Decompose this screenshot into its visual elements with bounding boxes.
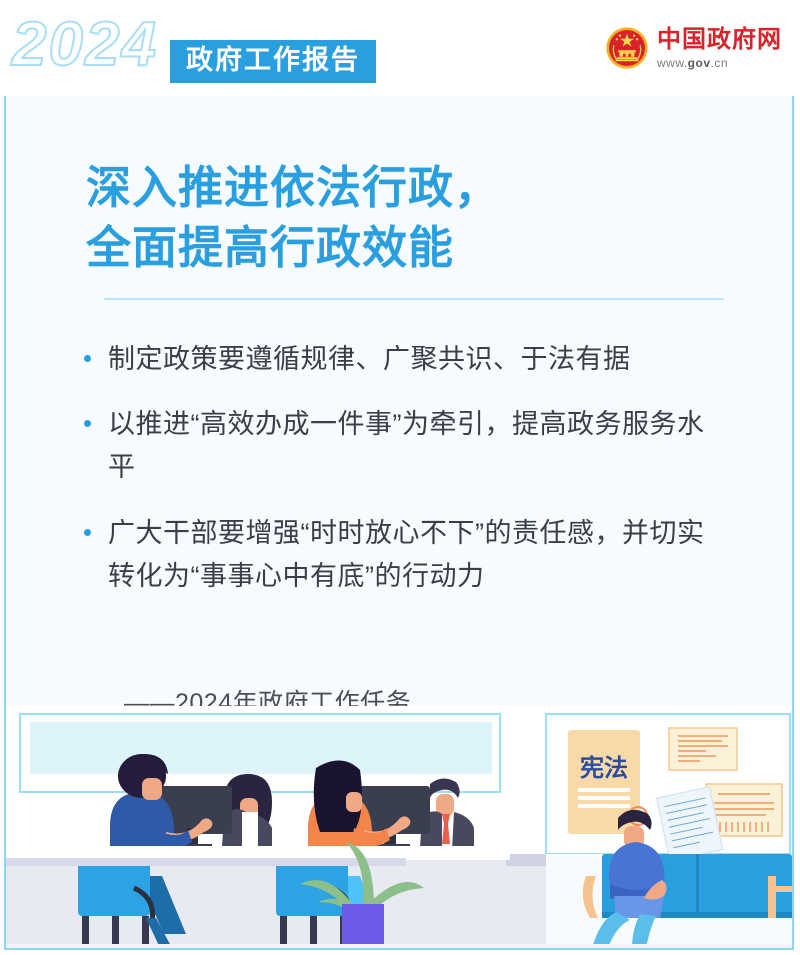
year-watermark: 2024	[12, 14, 158, 76]
brand-url-mid: gov	[688, 56, 711, 70]
brand-url-suffix: .cn	[711, 56, 729, 70]
brand-url: www.gov.cn	[657, 57, 782, 69]
list-item-label: 以推进“高效办成一件事”为牵引，提高政务服务水平	[108, 403, 729, 489]
list-item: 以推进“高效办成一件事”为牵引，提高政务服务水平	[84, 403, 729, 489]
content-frame: 深入推进依法行政， 全面提高行政效能 制定政策要遵循规律、广聚共识、于法有据 以…	[4, 84, 794, 950]
list-item-label: 广大干部要增强“时时放心不下”的责任感，并切实转化为“事事心中有底”的行动力	[108, 512, 729, 598]
brand-text-block: 中国政府网 www.gov.cn	[657, 28, 782, 69]
list-item-label: 制定政策要遵循规律、广聚共识、于法有据	[108, 338, 729, 381]
bullet-list: 制定政策要遵循规律、广聚共识、于法有据 以推进“高效办成一件事”为牵引，提高政务…	[84, 338, 729, 620]
page-header: 2024 政府工作报告	[0, 0, 800, 96]
government-service-hall-illustration: 宪法	[6, 706, 792, 948]
list-item: 广大干部要增强“时时放心不下”的责任感，并切实转化为“事事心中有底”的行动力	[84, 512, 729, 598]
national-emblem-icon	[605, 26, 649, 70]
brand-url-prefix: www.	[657, 56, 688, 70]
site-brand[interactable]: 中国政府网 www.gov.cn	[605, 26, 782, 70]
report-title-badge: 政府工作报告	[170, 40, 376, 83]
page-title: 深入推进依法行政， 全面提高行政效能	[86, 158, 500, 279]
bullet-dot-icon	[84, 529, 91, 536]
brand-name: 中国政府网	[657, 28, 782, 52]
bullet-dot-icon	[84, 355, 91, 362]
constitution-poster-label: 宪法	[580, 754, 628, 782]
list-item: 制定政策要遵循规律、广聚共识、于法有据	[84, 338, 729, 381]
title-divider	[104, 298, 724, 300]
infographic-page: 2024 政府工作报告	[0, 0, 800, 955]
bullet-dot-icon	[84, 420, 91, 427]
